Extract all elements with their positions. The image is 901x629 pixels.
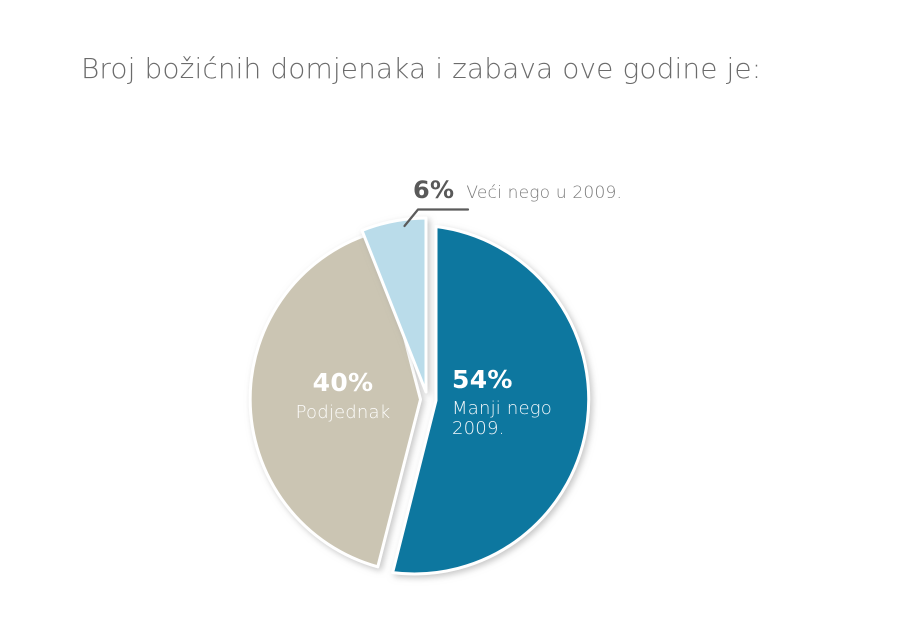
slide-canvas: Broj božićnih domjenaka i zabava ove god…: [0, 0, 901, 629]
pie-chart-svg: [0, 0, 901, 629]
pie-chart: 54% Manji nego 2009. 40% Podjednak 6% Ve…: [0, 0, 901, 629]
